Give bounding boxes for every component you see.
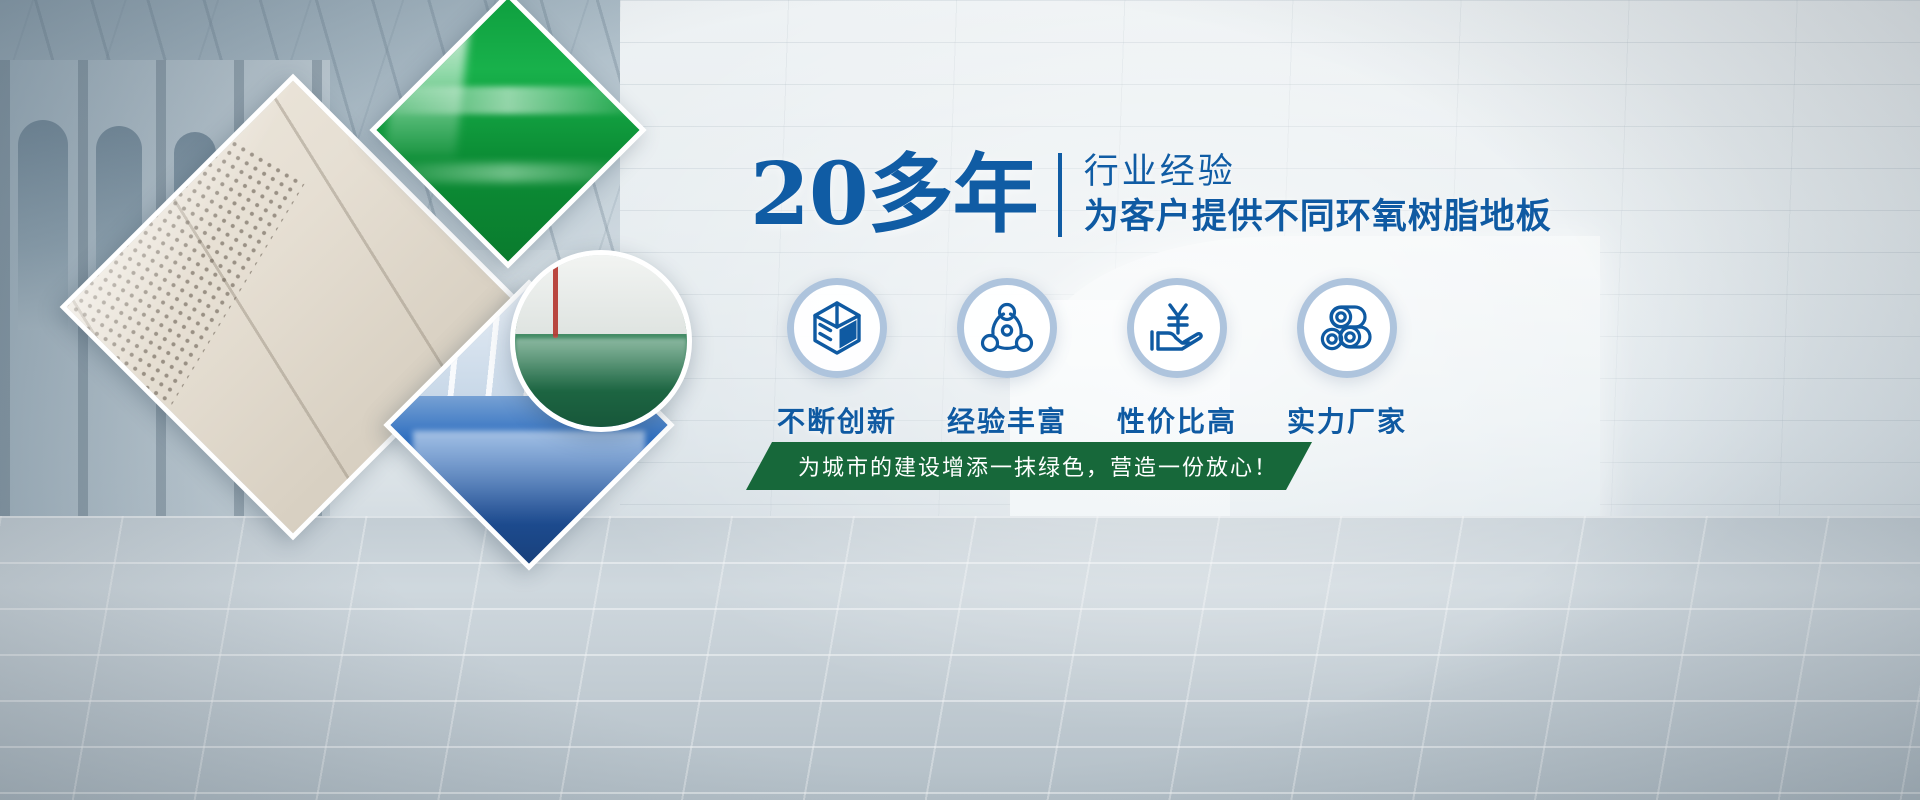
feature-label: 实力厂家 bbox=[1287, 400, 1407, 440]
headline-block: 20多年 行业经验 为客户提供不同环氧树脂地板 bbox=[750, 150, 1552, 240]
feature-item-value[interactable]: 性价比高 bbox=[1092, 278, 1262, 440]
headline-years: 20多年 bbox=[750, 152, 1038, 238]
feature-item-experience[interactable]: 经验丰富 bbox=[922, 278, 1092, 440]
banner-content: 20多年 行业经验 为客户提供不同环氧树脂地板 bbox=[742, 0, 1920, 800]
feature-label: 性价比高 bbox=[1117, 400, 1237, 440]
headline-subline-1: 行业经验 bbox=[1084, 150, 1552, 194]
corridor-floor-reflection bbox=[515, 338, 687, 427]
hero-banner: 20多年 行业经验 为客户提供不同环氧树脂地板 bbox=[0, 0, 1920, 800]
blue-floor-reflection bbox=[413, 431, 645, 564]
green-floor-light-strip-2 bbox=[370, 163, 646, 182]
corridor-wall bbox=[515, 255, 687, 334]
green-corridor-floor-photo bbox=[510, 250, 692, 432]
feature-label: 经验丰富 bbox=[947, 400, 1067, 440]
stacked-rolls-icon bbox=[1297, 278, 1397, 378]
molecule-nodes-icon bbox=[957, 278, 1057, 378]
hand-holding-yuan-icon bbox=[1127, 278, 1227, 378]
tagline-ribbon: 为城市的建设增添一抹绿色，营造一份放心！ bbox=[746, 442, 1312, 490]
feature-list: 不断创新 经验丰富 bbox=[752, 278, 1452, 440]
headline-subtext: 行业经验 为客户提供不同环氧树脂地板 bbox=[1084, 150, 1552, 240]
photo-collage bbox=[110, 10, 730, 630]
feature-item-factory[interactable]: 实力厂家 bbox=[1262, 278, 1432, 440]
headline-subline-2: 为客户提供不同环氧树脂地板 bbox=[1084, 194, 1552, 240]
feature-item-innovation[interactable]: 不断创新 bbox=[752, 278, 922, 440]
feature-label: 不断创新 bbox=[777, 400, 897, 440]
green-floor-light-strip bbox=[370, 86, 646, 114]
headline-divider bbox=[1058, 153, 1062, 237]
tagline-text: 为城市的建设增添一抹绿色，营造一份放心！ bbox=[798, 450, 1278, 482]
corridor-red-pipe bbox=[553, 265, 558, 337]
cube-box-icon bbox=[787, 278, 887, 378]
